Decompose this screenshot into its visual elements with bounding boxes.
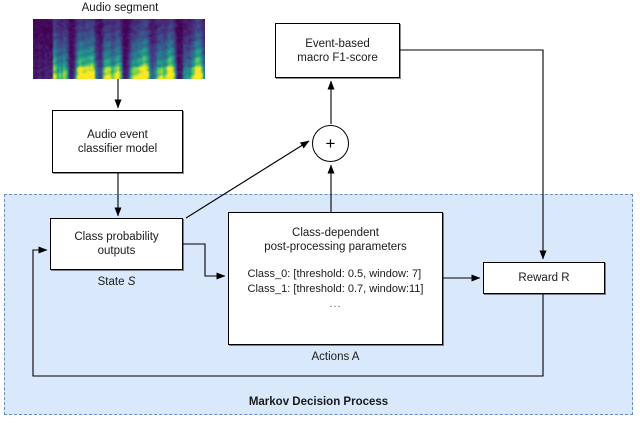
plus-symbol: + xyxy=(326,135,336,152)
plus-junction-icon: + xyxy=(312,125,349,162)
class-dependent-post-processing-node: Class-dependent post-processing paramete… xyxy=(228,212,443,345)
actions-title-line-1: Class-dependent xyxy=(264,226,407,240)
actions-title: Class-dependent post-processing paramete… xyxy=(264,226,407,254)
class-probability-outputs-node: Class probability outputs xyxy=(50,218,183,270)
audio-segment-label: Audio segment xyxy=(40,1,200,15)
reward-node: Reward R xyxy=(483,262,605,294)
actions-param-ellipsis: ... xyxy=(248,297,424,312)
state-caption-symbol: S xyxy=(128,276,136,288)
classifier-line-1: Audio event xyxy=(87,128,148,142)
actions-parameter-list: Class_0: [threshold: 0.5, window: 7] Cla… xyxy=(248,267,424,312)
audio-spectrogram-image xyxy=(33,19,205,79)
state-caption-prefix: State xyxy=(98,276,128,288)
reward-label: Reward R xyxy=(518,271,569,285)
actions-param-class-0: Class_0: [threshold: 0.5, window: 7] xyxy=(248,267,424,282)
state-line-2: outputs xyxy=(98,244,136,258)
state-caption: State S xyxy=(50,275,183,289)
f1-line-2: macro F1-score xyxy=(297,51,378,65)
markov-decision-process-label: Markov Decision Process xyxy=(4,396,633,408)
actions-caption: Actions A xyxy=(228,350,443,364)
spectrogram-canvas xyxy=(33,19,205,79)
actions-title-line-2: post-processing parameters xyxy=(264,240,407,254)
f1-line-1: Event-based xyxy=(305,37,370,51)
event-based-macro-f1-score-node: Event-based macro F1-score xyxy=(275,23,400,78)
state-line-1: Class probability xyxy=(74,230,158,244)
actions-param-class-1: Class_1: [threshold: 0.7, window:11] xyxy=(248,282,424,297)
diagram-canvas: Audio segment Audio event classifier mod… xyxy=(0,0,640,423)
classifier-line-2: classifier model xyxy=(78,142,157,156)
audio-event-classifier-node: Audio event classifier model xyxy=(52,110,183,173)
